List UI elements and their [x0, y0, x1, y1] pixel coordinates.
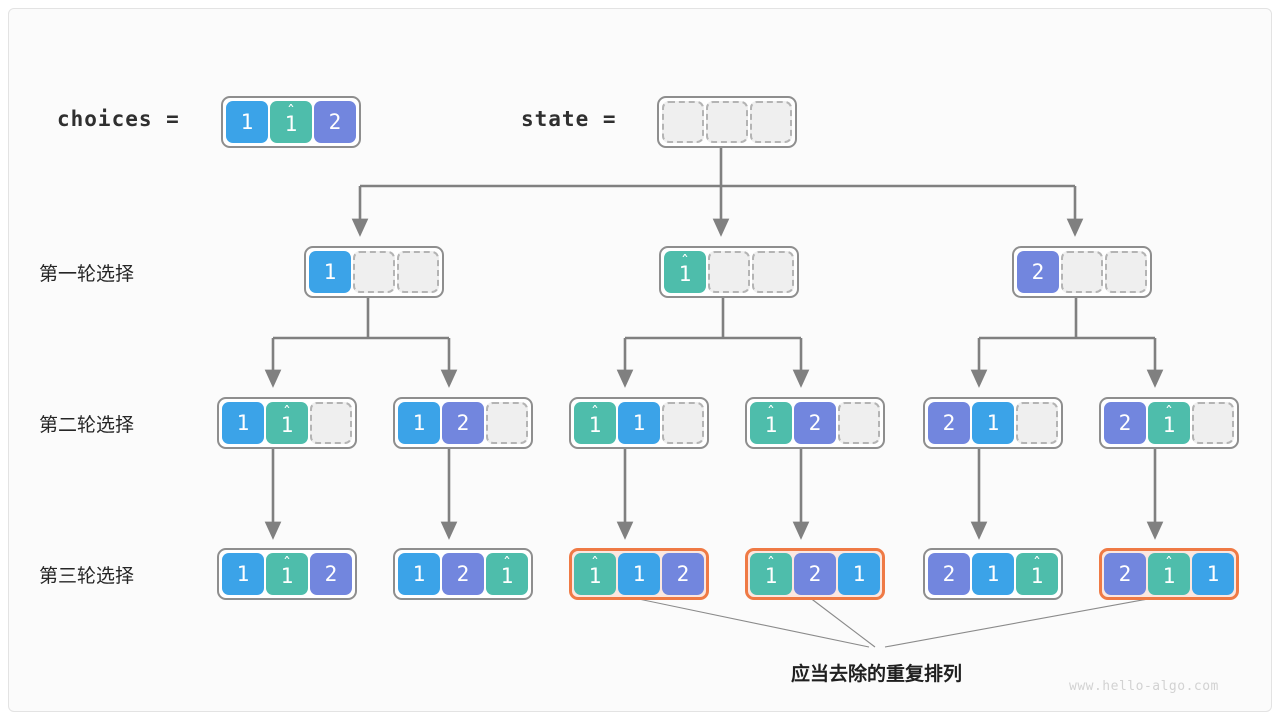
hat-icon: ˆ: [1016, 556, 1058, 572]
round2-node-1-cell-0: 1: [398, 402, 440, 444]
hat-icon: ˆ: [1148, 405, 1190, 421]
row-label-round2: 第二轮选择: [39, 410, 134, 437]
cell-value: 2: [457, 413, 470, 434]
round2-node-1-cell-1: 2: [442, 402, 484, 444]
round1-node-0-cell-0: 1: [309, 251, 351, 293]
round2-node-3-cell-0: ˆ1: [750, 402, 792, 444]
round3-node-3-cell-0: ˆ1: [750, 553, 792, 595]
round3-node-0-cell-1: ˆ1: [266, 553, 308, 595]
round3-node-4-cell-0: 2: [928, 553, 970, 595]
round2-node-3-cell-1: 2: [794, 402, 836, 444]
round3-node-5-cell-1: ˆ1: [1148, 553, 1190, 595]
hat-icon: ˆ: [266, 556, 308, 572]
round1-node-1-cell-0: ˆ1: [664, 251, 706, 293]
choices-label: choices =: [57, 107, 180, 131]
round2-node-3: ˆ12: [745, 397, 885, 449]
round3-node-4-cell-2: ˆ1: [1016, 553, 1058, 595]
cell-value: 1: [987, 564, 1000, 585]
cell-value: 1: [987, 413, 1000, 434]
round3-node-0-cell-0: 1: [222, 553, 264, 595]
state-array-cell-2: [750, 101, 792, 143]
round1-node-0: 1: [304, 246, 444, 298]
round2-node-0-cell-0: 1: [222, 402, 264, 444]
round3-node-0-cell-2: 2: [310, 553, 352, 595]
cell-value: 1: [324, 262, 337, 283]
round2-node-5: 2ˆ1: [1099, 397, 1239, 449]
round3-node-4: 21ˆ1: [923, 548, 1063, 600]
watermark: www.hello-algo.com: [1069, 679, 1219, 694]
round1-node-1-cell-2: [752, 251, 794, 293]
round1-node-2-cell-1: [1061, 251, 1103, 293]
choices-array-cell-1: ˆ1: [270, 101, 312, 143]
cell-value: 2: [1119, 413, 1132, 434]
cell-value: 1: [633, 413, 646, 434]
hat-icon: ˆ: [750, 405, 792, 421]
cell-value: 1: [241, 112, 254, 133]
choices-array: 1ˆ12: [221, 96, 361, 148]
state-array: [657, 96, 797, 148]
cell-value: 2: [1032, 262, 1045, 283]
round1-node-2-cell-0: 2: [1017, 251, 1059, 293]
round3-node-1-cell-0: 1: [398, 553, 440, 595]
round2-node-0-cell-1: ˆ1: [266, 402, 308, 444]
round3-node-2-cell-0: ˆ1: [574, 553, 616, 595]
cell-value: 1: [853, 564, 866, 585]
round1-node-1: ˆ1: [659, 246, 799, 298]
round2-node-2-cell-1: 1: [618, 402, 660, 444]
round1-node-2-cell-2: [1105, 251, 1147, 293]
round2-node-5-cell-1: ˆ1: [1148, 402, 1190, 444]
round2-node-2-cell-0: ˆ1: [574, 402, 616, 444]
choices-array-cell-2: 2: [314, 101, 356, 143]
round3-node-3-cell-1: 2: [794, 553, 836, 595]
round3-node-5-cell-2: 1: [1192, 553, 1234, 595]
round3-node-4-cell-1: 1: [972, 553, 1014, 595]
state-label: state =: [521, 107, 617, 131]
round2-node-3-cell-2: [838, 402, 880, 444]
round3-node-1-cell-2: ˆ1: [486, 553, 528, 595]
connector-lines: [9, 9, 1272, 712]
round2-node-4-cell-0: 2: [928, 402, 970, 444]
round1-node-2: 2: [1012, 246, 1152, 298]
round3-node-3-cell-2: 1: [838, 553, 880, 595]
cell-value: 2: [677, 564, 690, 585]
cell-value: 2: [809, 564, 822, 585]
round3-node-2-cell-1: 1: [618, 553, 660, 595]
cell-value: 2: [325, 564, 338, 585]
hat-icon: ˆ: [574, 556, 616, 572]
cell-value: 1: [237, 564, 250, 585]
round3-node-2: ˆ112: [569, 548, 709, 600]
hat-icon: ˆ: [1148, 556, 1190, 572]
state-array-cell-0: [662, 101, 704, 143]
cell-value: 2: [457, 564, 470, 585]
cell-value: 1: [413, 413, 426, 434]
row-label-round1: 第一轮选择: [39, 259, 134, 286]
hat-icon: ˆ: [574, 405, 616, 421]
round2-node-2-cell-2: [662, 402, 704, 444]
cell-value: 1: [237, 413, 250, 434]
row-label-round3: 第三轮选择: [39, 561, 134, 588]
round2-node-0: 1ˆ1: [217, 397, 357, 449]
round2-node-2: ˆ11: [569, 397, 709, 449]
cell-value: 2: [943, 413, 956, 434]
round2-node-0-cell-2: [310, 402, 352, 444]
round2-node-5-cell-2: [1192, 402, 1234, 444]
round3-node-1-cell-1: 2: [442, 553, 484, 595]
round2-node-1: 12: [393, 397, 533, 449]
round3-node-3: ˆ121: [745, 548, 885, 600]
round1-node-1-cell-1: [708, 251, 750, 293]
hat-icon: ˆ: [664, 254, 706, 270]
round3-node-1: 12ˆ1: [393, 548, 533, 600]
round2-node-4-cell-1: 1: [972, 402, 1014, 444]
hat-icon: ˆ: [486, 556, 528, 572]
cell-value: 2: [1119, 564, 1132, 585]
round1-node-0-cell-1: [353, 251, 395, 293]
hat-icon: ˆ: [270, 104, 312, 120]
cell-value: 2: [329, 112, 342, 133]
cell-value: 2: [809, 413, 822, 434]
hat-icon: ˆ: [750, 556, 792, 572]
cell-value: 1: [1207, 564, 1220, 585]
round2-node-1-cell-2: [486, 402, 528, 444]
cell-value: 2: [943, 564, 956, 585]
diagram-canvas: choices = state = 第一轮选择 第二轮选择 第三轮选择 1ˆ12…: [8, 8, 1272, 712]
round3-node-2-cell-2: 2: [662, 553, 704, 595]
cell-value: 1: [633, 564, 646, 585]
cell-value: 1: [413, 564, 426, 585]
round2-node-4-cell-2: [1016, 402, 1058, 444]
round1-node-0-cell-2: [397, 251, 439, 293]
hat-icon: ˆ: [266, 405, 308, 421]
choices-array-cell-0: 1: [226, 101, 268, 143]
duplicate-caption: 应当去除的重复排列: [791, 659, 962, 686]
round3-node-0: 1ˆ12: [217, 548, 357, 600]
round2-node-5-cell-0: 2: [1104, 402, 1146, 444]
round2-node-4: 21: [923, 397, 1063, 449]
round3-node-5: 2ˆ11: [1099, 548, 1239, 600]
state-array-cell-1: [706, 101, 748, 143]
round3-node-5-cell-0: 2: [1104, 553, 1146, 595]
